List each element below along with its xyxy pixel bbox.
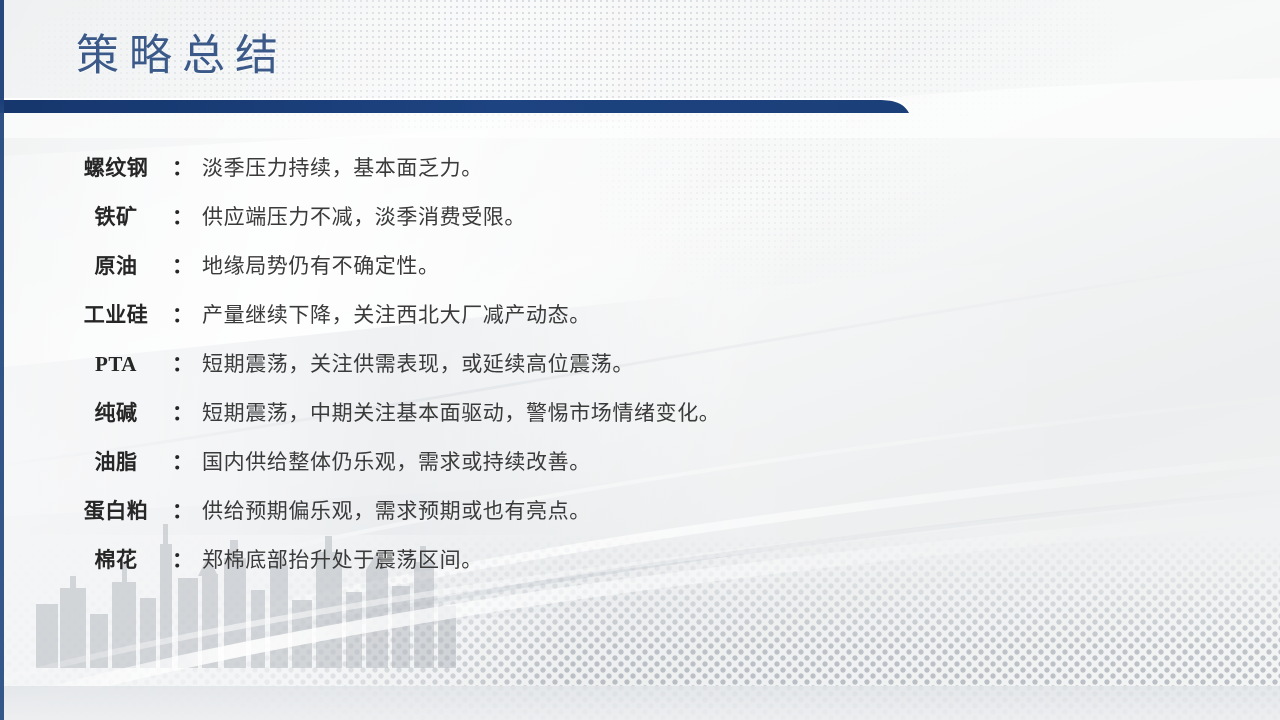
list-item-label: 油脂 — [60, 446, 172, 476]
list-item-colon: ： — [172, 397, 193, 427]
list-item-colon: ： — [172, 250, 193, 280]
list-item: 工业硅 ： 产量继续下降，关注西北大厂减产动态。 — [0, 299, 1280, 348]
list-item-label: 铁矿 — [60, 201, 172, 231]
list-item-label: 原油 — [60, 250, 172, 280]
page-title: 策略总结 — [76, 32, 288, 81]
list-item-label: PTA — [60, 352, 172, 377]
strategy-summary-list: 螺纹钢 ： 淡季压力持续，基本面乏力。 铁矿 ： 供应端压力不减，淡季消费受限。… — [0, 152, 1280, 593]
list-item-text: 供给预期偏乐观，需求预期或也有亮点。 — [202, 495, 591, 525]
list-item-label: 螺纹钢 — [60, 152, 172, 182]
list-item-label: 纯碱 — [60, 397, 172, 427]
list-item: 纯碱 ： 短期震荡，中期关注基本面驱动，警惕市场情绪变化。 — [0, 397, 1280, 446]
list-item: 原油 ： 地缘局势仍有不确定性。 — [0, 250, 1280, 299]
list-item: 螺纹钢 ： 淡季压力持续，基本面乏力。 — [0, 152, 1280, 201]
list-item-colon: ： — [172, 201, 193, 231]
list-item-text: 地缘局势仍有不确定性。 — [202, 250, 440, 280]
list-item: PTA ： 短期震荡，关注供需表现，或延续高位震荡。 — [0, 348, 1280, 397]
list-item: 蛋白粕 ： 供给预期偏乐观，需求预期或也有亮点。 — [0, 495, 1280, 544]
list-item-colon: ： — [172, 348, 193, 378]
slide-canvas: 策略总结 螺纹钢 ： 淡季压力持续，基本面乏力。 铁矿 ： 供应端压力不减，淡季… — [0, 0, 1280, 720]
list-item-text: 短期震荡，中期关注基本面驱动，警惕市场情绪变化。 — [202, 397, 720, 427]
list-item-text: 郑棉底部抬升处于震荡区间。 — [202, 544, 483, 574]
list-item-colon: ： — [172, 544, 193, 574]
list-item-colon: ： — [172, 446, 193, 476]
list-item-colon: ： — [172, 495, 193, 525]
list-item-text: 短期震荡，关注供需表现，或延续高位震荡。 — [202, 348, 634, 378]
list-item: 铁矿 ： 供应端压力不减，淡季消费受限。 — [0, 201, 1280, 250]
list-item-colon: ： — [172, 152, 193, 182]
slide-header: 策略总结 — [0, 0, 1280, 132]
list-item-label: 蛋白粕 — [60, 495, 172, 525]
list-item-text: 供应端压力不减，淡季消费受限。 — [202, 201, 526, 231]
list-item-text: 淡季压力持续，基本面乏力。 — [202, 152, 483, 182]
header-curve-plate — [0, 78, 1280, 138]
list-item-colon: ： — [172, 299, 193, 329]
list-item: 油脂 ： 国内供给整体仍乐观，需求或持续改善。 — [0, 446, 1280, 495]
list-item-text: 产量继续下降，关注西北大厂减产动态。 — [202, 299, 591, 329]
list-item-label: 工业硅 — [60, 299, 172, 329]
bottom-base-strip — [0, 686, 1280, 720]
list-item-label: 棉花 — [60, 544, 172, 574]
list-item-text: 国内供给整体仍乐观，需求或持续改善。 — [202, 446, 591, 476]
list-item: 棉花 ： 郑棉底部抬升处于震荡区间。 — [0, 544, 1280, 593]
header-navy-rule — [0, 92, 1000, 122]
